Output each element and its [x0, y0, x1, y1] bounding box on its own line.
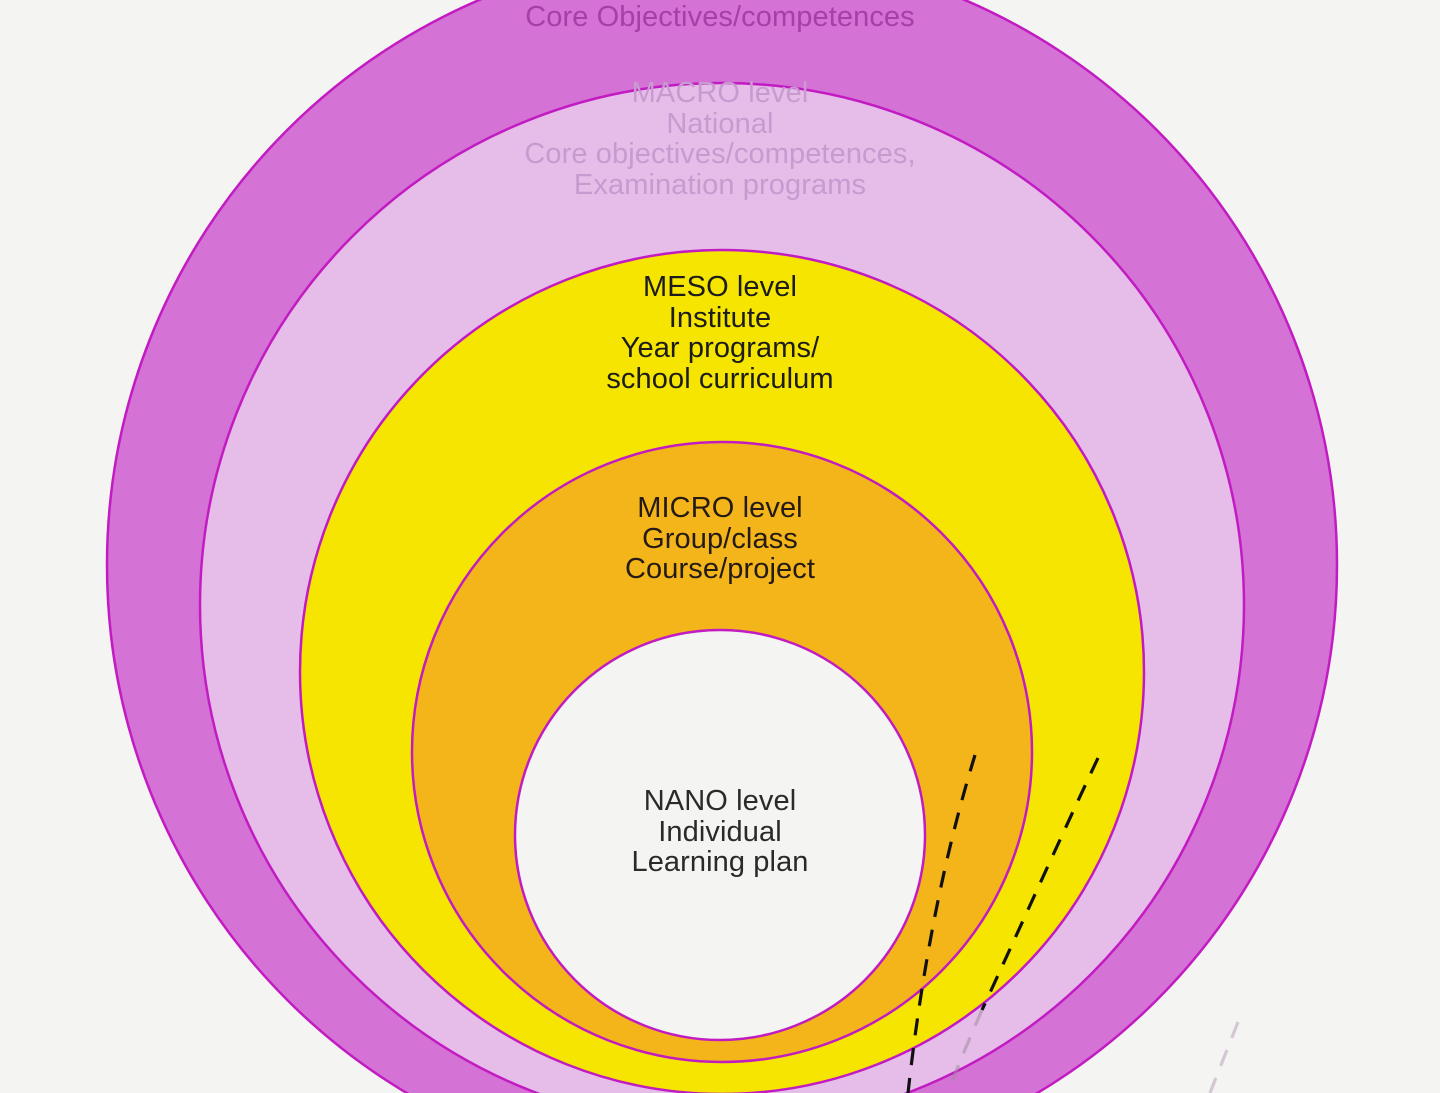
diagram-canvas: Core Objectives/competences MACRO level … [0, 0, 1440, 1093]
concentric-circles-svg [0, 0, 1440, 1093]
faded-dashed-divider-lower [1210, 1022, 1238, 1093]
nano-core-circle [515, 630, 925, 1040]
